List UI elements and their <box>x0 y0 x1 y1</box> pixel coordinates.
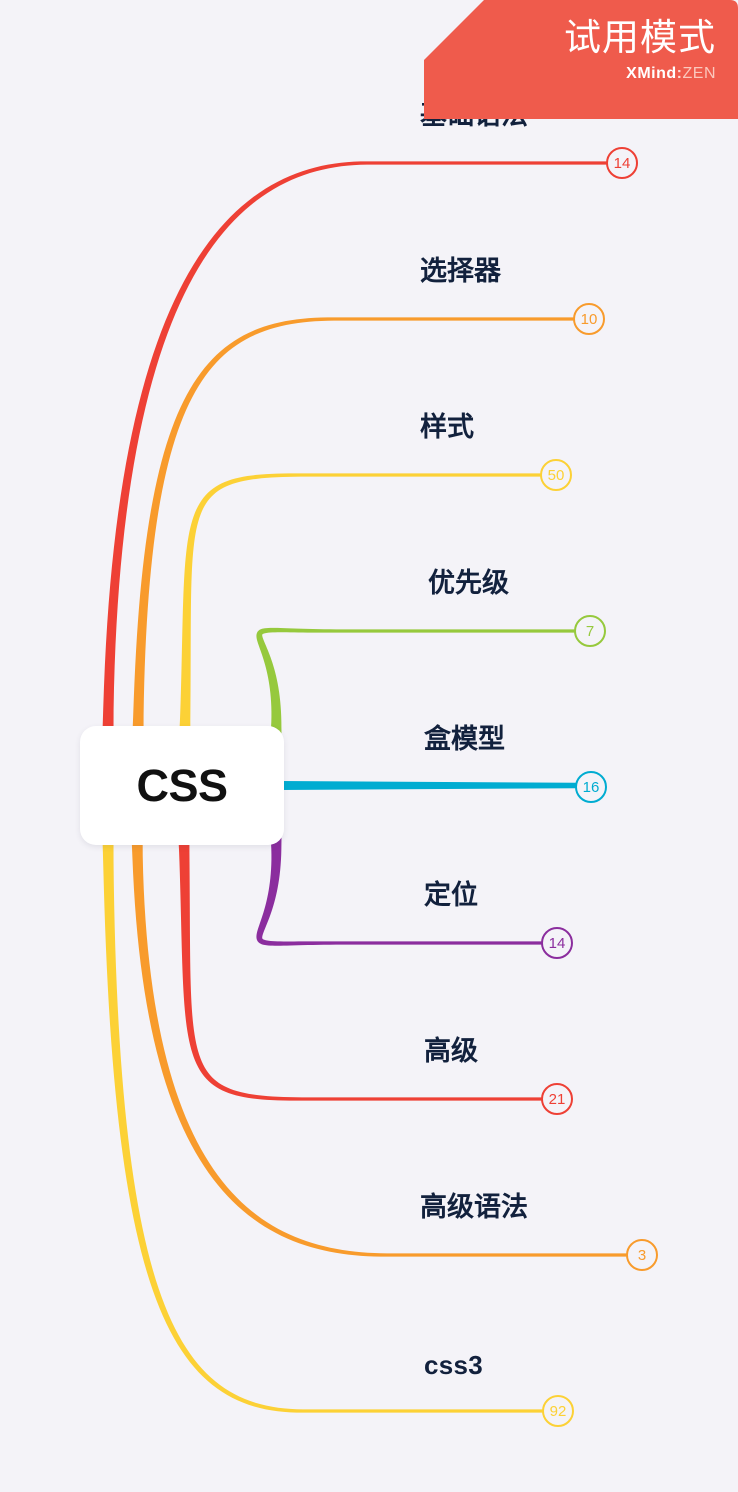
subtopic-count-label: 21 <box>542 1092 572 1107</box>
topic-label[interactable]: 样式 <box>420 411 474 443</box>
central-topic-node[interactable]: CSS <box>80 726 284 845</box>
branch-line <box>103 839 544 1413</box>
branch-line <box>256 837 542 945</box>
branch-line <box>178 839 542 1101</box>
branch-line <box>256 628 575 734</box>
topic-label[interactable]: css3 <box>424 1349 483 1381</box>
subtopic-count-label: 3 <box>627 1248 657 1263</box>
topic-label[interactable]: 定位 <box>424 879 478 911</box>
topic-label[interactable]: 高级 <box>424 1035 478 1067</box>
subtopic-count-label: 14 <box>607 156 637 171</box>
topic-label[interactable]: 高级语法 <box>420 1191 528 1223</box>
brand-suffix-text: ZEN <box>683 65 717 82</box>
subtopic-count-label: 7 <box>575 624 605 639</box>
subtopic-count-label: 14 <box>542 936 572 951</box>
branch-line <box>280 781 576 790</box>
trial-mode-title: 试用模式 <box>564 16 716 60</box>
topic-label[interactable]: 优先级 <box>428 567 509 599</box>
central-topic-label: CSS <box>136 760 227 812</box>
mindmap-canvas[interactable]: CSS 14基础语法10选择器50样式7优先级16盒模型14定位21高级3高级语… <box>0 0 738 1492</box>
branch-line <box>133 317 574 732</box>
branch-line <box>103 161 608 732</box>
topic-label[interactable]: 选择器 <box>420 255 501 287</box>
topic-label[interactable]: 盒模型 <box>424 723 505 755</box>
subtopic-count-label: 50 <box>541 468 571 483</box>
brand-name-text: XMind <box>626 65 677 82</box>
xmind-brand-logo: XMind:ZEN <box>564 64 716 83</box>
subtopic-count-label: 16 <box>576 780 606 795</box>
trial-mode-banner: 试用模式 XMind:ZEN <box>424 0 738 119</box>
branch-line <box>179 473 541 732</box>
branch-line <box>132 839 627 1257</box>
subtopic-count-label: 10 <box>574 312 604 327</box>
trial-banner-text: 试用模式 XMind:ZEN <box>564 16 716 83</box>
subtopic-count-label: 92 <box>543 1404 573 1419</box>
